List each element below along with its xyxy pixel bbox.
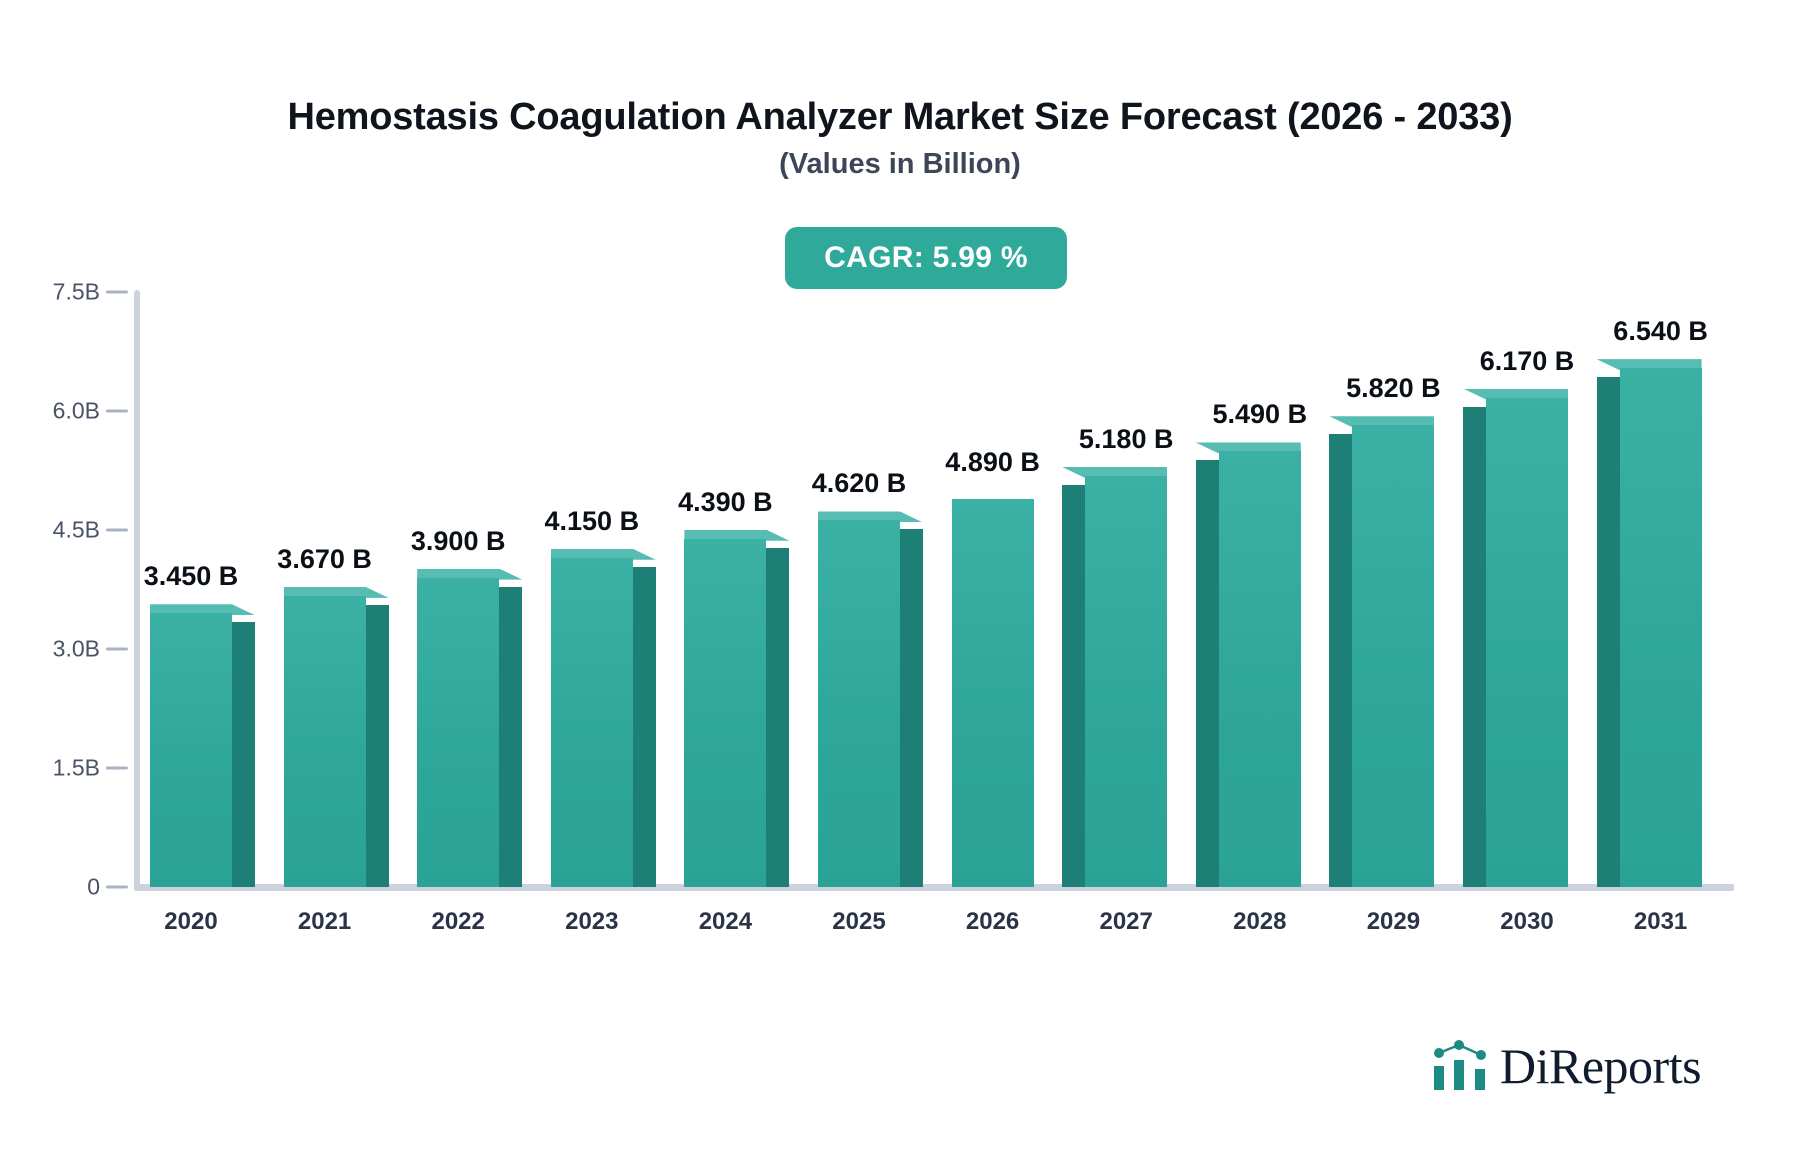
x-axis-category-label: 2031 [1601, 908, 1721, 936]
x-axis-category-label: 2025 [799, 908, 919, 936]
logo-text: DiReports [1500, 1041, 1701, 1091]
x-axis-category-label: 2028 [1200, 908, 1320, 936]
x-axis-category-label: 2026 [933, 908, 1053, 936]
bar-item[interactable] [0, 0, 1800, 887]
direports-logo: DiReports [1432, 1040, 1701, 1092]
plot-area: 7.5B6.0B4.5B3.0B1.5B0 202020212022202320… [0, 0, 1800, 1156]
x-axis-category-label: 2020 [131, 908, 251, 936]
bar-side-face [1597, 377, 1620, 887]
x-axis-category-label: 2021 [265, 908, 385, 936]
x-axis-category-label: 2029 [1333, 908, 1453, 936]
x-axis-category-label: 2027 [1066, 908, 1186, 936]
bar-value-label: 6.540 B [1581, 316, 1741, 347]
x-axis-category-label: 2023 [532, 908, 652, 936]
x-axis-category-label: 2022 [398, 908, 518, 936]
x-axis-category-label: 2024 [665, 908, 785, 936]
chart-canvas: Hemostasis Coagulation Analyzer Market S… [0, 0, 1800, 1156]
bar-value-label: 6.170 B [1447, 346, 1607, 377]
bar-value-label: 5.820 B [1313, 373, 1473, 404]
bar-chart-icon [1432, 1040, 1490, 1092]
x-axis-category-label: 2030 [1467, 908, 1587, 936]
bar-front-face[interactable] [1620, 368, 1702, 887]
